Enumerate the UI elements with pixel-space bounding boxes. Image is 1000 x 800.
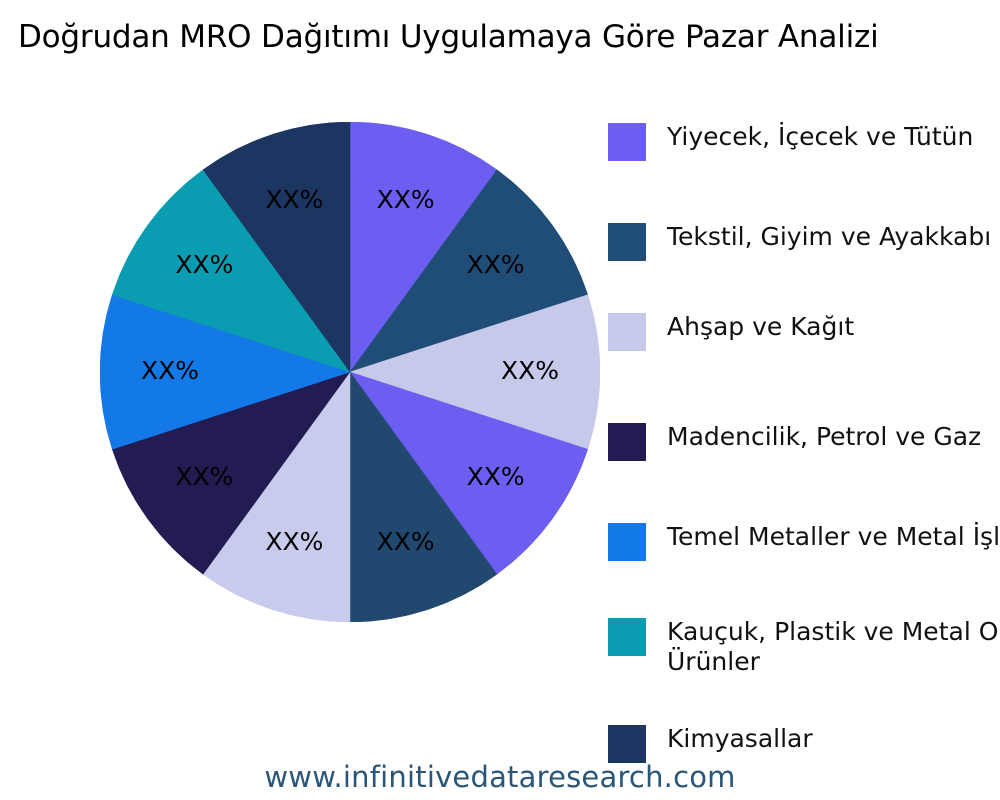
- footer-watermark: www.infinitivedataresearch.com: [0, 760, 1000, 794]
- legend-swatch-icon: [608, 223, 646, 261]
- pie-slice-label: XX%: [175, 250, 233, 279]
- legend-item[interactable]: Temel Metaller ve Metal İşleme: [608, 522, 1000, 561]
- legend-item[interactable]: Ahşap ve Kağıt: [608, 312, 1000, 351]
- pie-slice-label: XX%: [467, 250, 525, 279]
- pie-slice-label: XX%: [265, 527, 323, 556]
- legend-item[interactable]: Madencilik, Petrol ve Gaz: [608, 422, 1000, 461]
- legend-swatch-icon: [608, 313, 646, 351]
- legend-swatch-icon: [608, 423, 646, 461]
- legend-item-label: Kimyasallar: [667, 724, 813, 754]
- legend-swatch-icon: [608, 618, 646, 656]
- legend-item[interactable]: Kauçuk, Plastik ve Metal Olmayan Ürünler: [608, 617, 1000, 677]
- pie-chart-figure: Doğrudan MRO Dağıtımı Uygulamaya Göre Pa…: [0, 0, 1000, 800]
- legend-item-label: Ahşap ve Kağıt: [667, 312, 854, 342]
- pie-slice-label: XX%: [175, 462, 233, 491]
- chart-title: Doğrudan MRO Dağıtımı Uygulamaya Göre Pa…: [18, 22, 1000, 53]
- pie-slice-label: XX%: [141, 356, 199, 385]
- pie-slice-label: XX%: [377, 185, 435, 214]
- legend-item[interactable]: Yiyecek, İçecek ve Tütün: [608, 122, 1000, 161]
- legend-item[interactable]: Tekstil, Giyim ve Ayakkabı: [608, 222, 1000, 261]
- pie-slice-label: XX%: [265, 185, 323, 214]
- pie-slice-label: XX%: [467, 462, 525, 491]
- pie-svg: XX%XX%XX%XX%XX%XX%XX%XX%XX%XX%: [100, 122, 600, 622]
- legend-swatch-icon: [608, 123, 646, 161]
- legend-item-label: Temel Metaller ve Metal İşleme: [667, 522, 1000, 552]
- pie-slice-label: XX%: [377, 527, 435, 556]
- legend-swatch-icon: [608, 523, 646, 561]
- legend-item[interactable]: Kimyasallar: [608, 724, 1000, 763]
- legend-item-label: Tekstil, Giyim ve Ayakkabı: [667, 222, 991, 252]
- legend-item-label: Kauçuk, Plastik ve Metal Olmayan Ürünler: [667, 617, 1000, 677]
- pie-chart-area: XX%XX%XX%XX%XX%XX%XX%XX%XX%XX%: [100, 122, 600, 622]
- pie-slice-label: XX%: [501, 356, 559, 385]
- legend-item-label: Madencilik, Petrol ve Gaz: [667, 422, 981, 452]
- legend-swatch-icon: [608, 725, 646, 763]
- legend: Yiyecek, İçecek ve TütünTekstil, Giyim v…: [608, 112, 1000, 772]
- legend-item-label: Yiyecek, İçecek ve Tütün: [667, 122, 973, 152]
